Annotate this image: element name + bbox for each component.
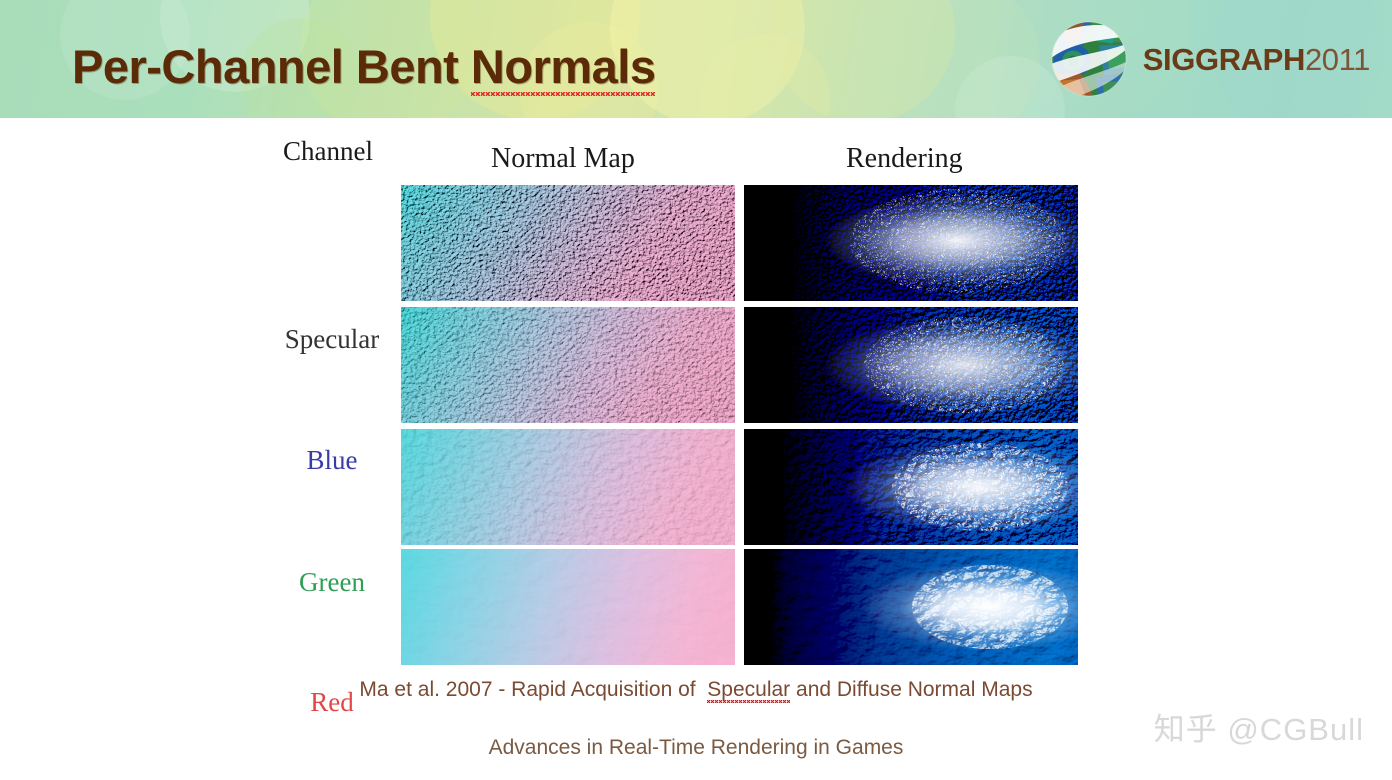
slide-canvas: Per-Channel Bent Normals	[0, 0, 1392, 780]
page-title-flagged-word: Normals	[471, 39, 656, 94]
rendering-image-red	[744, 549, 1078, 665]
row-label-specular: Specular	[252, 324, 412, 355]
figure-citation: Ma et al. 2007 - Rapid Acquisition of Sp…	[0, 678, 1392, 702]
rendering-thumbnail-green	[744, 429, 1078, 545]
siggraph-brand-year: 2011	[1305, 42, 1370, 77]
row-label-blue: Blue	[252, 445, 412, 476]
column-header-rendering: Rendering	[846, 143, 963, 175]
siggraph-logo-lockup: SIGGRAPH2011	[1047, 16, 1370, 102]
rendering-thumbnail-specular	[744, 185, 1078, 301]
normal-map-thumbnail-red	[401, 549, 735, 665]
column-header-normal-map: Normal Map	[491, 143, 635, 175]
normal-map-thumbnail-specular	[401, 185, 735, 301]
siggraph-brand-name: SIGGRAPH	[1143, 42, 1305, 77]
rendering-image-blue	[744, 307, 1078, 423]
citation-suffix: and Diffuse Normal Maps	[790, 678, 1032, 701]
column-header-channel: Channel	[283, 136, 373, 167]
siggraph-globe-icon	[1047, 17, 1131, 101]
rendering-image-specular	[744, 185, 1078, 301]
normal-map-thumbnail-blue	[401, 307, 735, 423]
normal-map-image-specular	[401, 185, 735, 301]
zhihu-watermark: 知乎 @CGBull	[1154, 704, 1364, 749]
row-label-green: Green	[252, 567, 412, 598]
page-title-text: Per-Channel Bent	[72, 40, 471, 93]
page-title: Per-Channel Bent Normals	[72, 39, 655, 94]
comparison-table: Channel Normal Map Rendering Specular	[0, 118, 1392, 673]
rendering-thumbnail-blue	[744, 307, 1078, 423]
siggraph-wordmark: SIGGRAPH2011	[1143, 44, 1370, 75]
rendering-image-green	[744, 429, 1078, 545]
normal-map-thumbnail-green	[401, 429, 735, 545]
normal-map-image-red	[401, 549, 735, 665]
normal-map-image-green	[401, 429, 735, 545]
normal-map-image-blue	[401, 307, 735, 423]
slide-header-banner: Per-Channel Bent Normals	[0, 0, 1392, 118]
rendering-thumbnail-red	[744, 549, 1078, 665]
citation-prefix: Ma et al. 2007 - Rapid Acquisition of	[359, 678, 707, 701]
citation-flagged-word: Specular	[707, 678, 790, 702]
